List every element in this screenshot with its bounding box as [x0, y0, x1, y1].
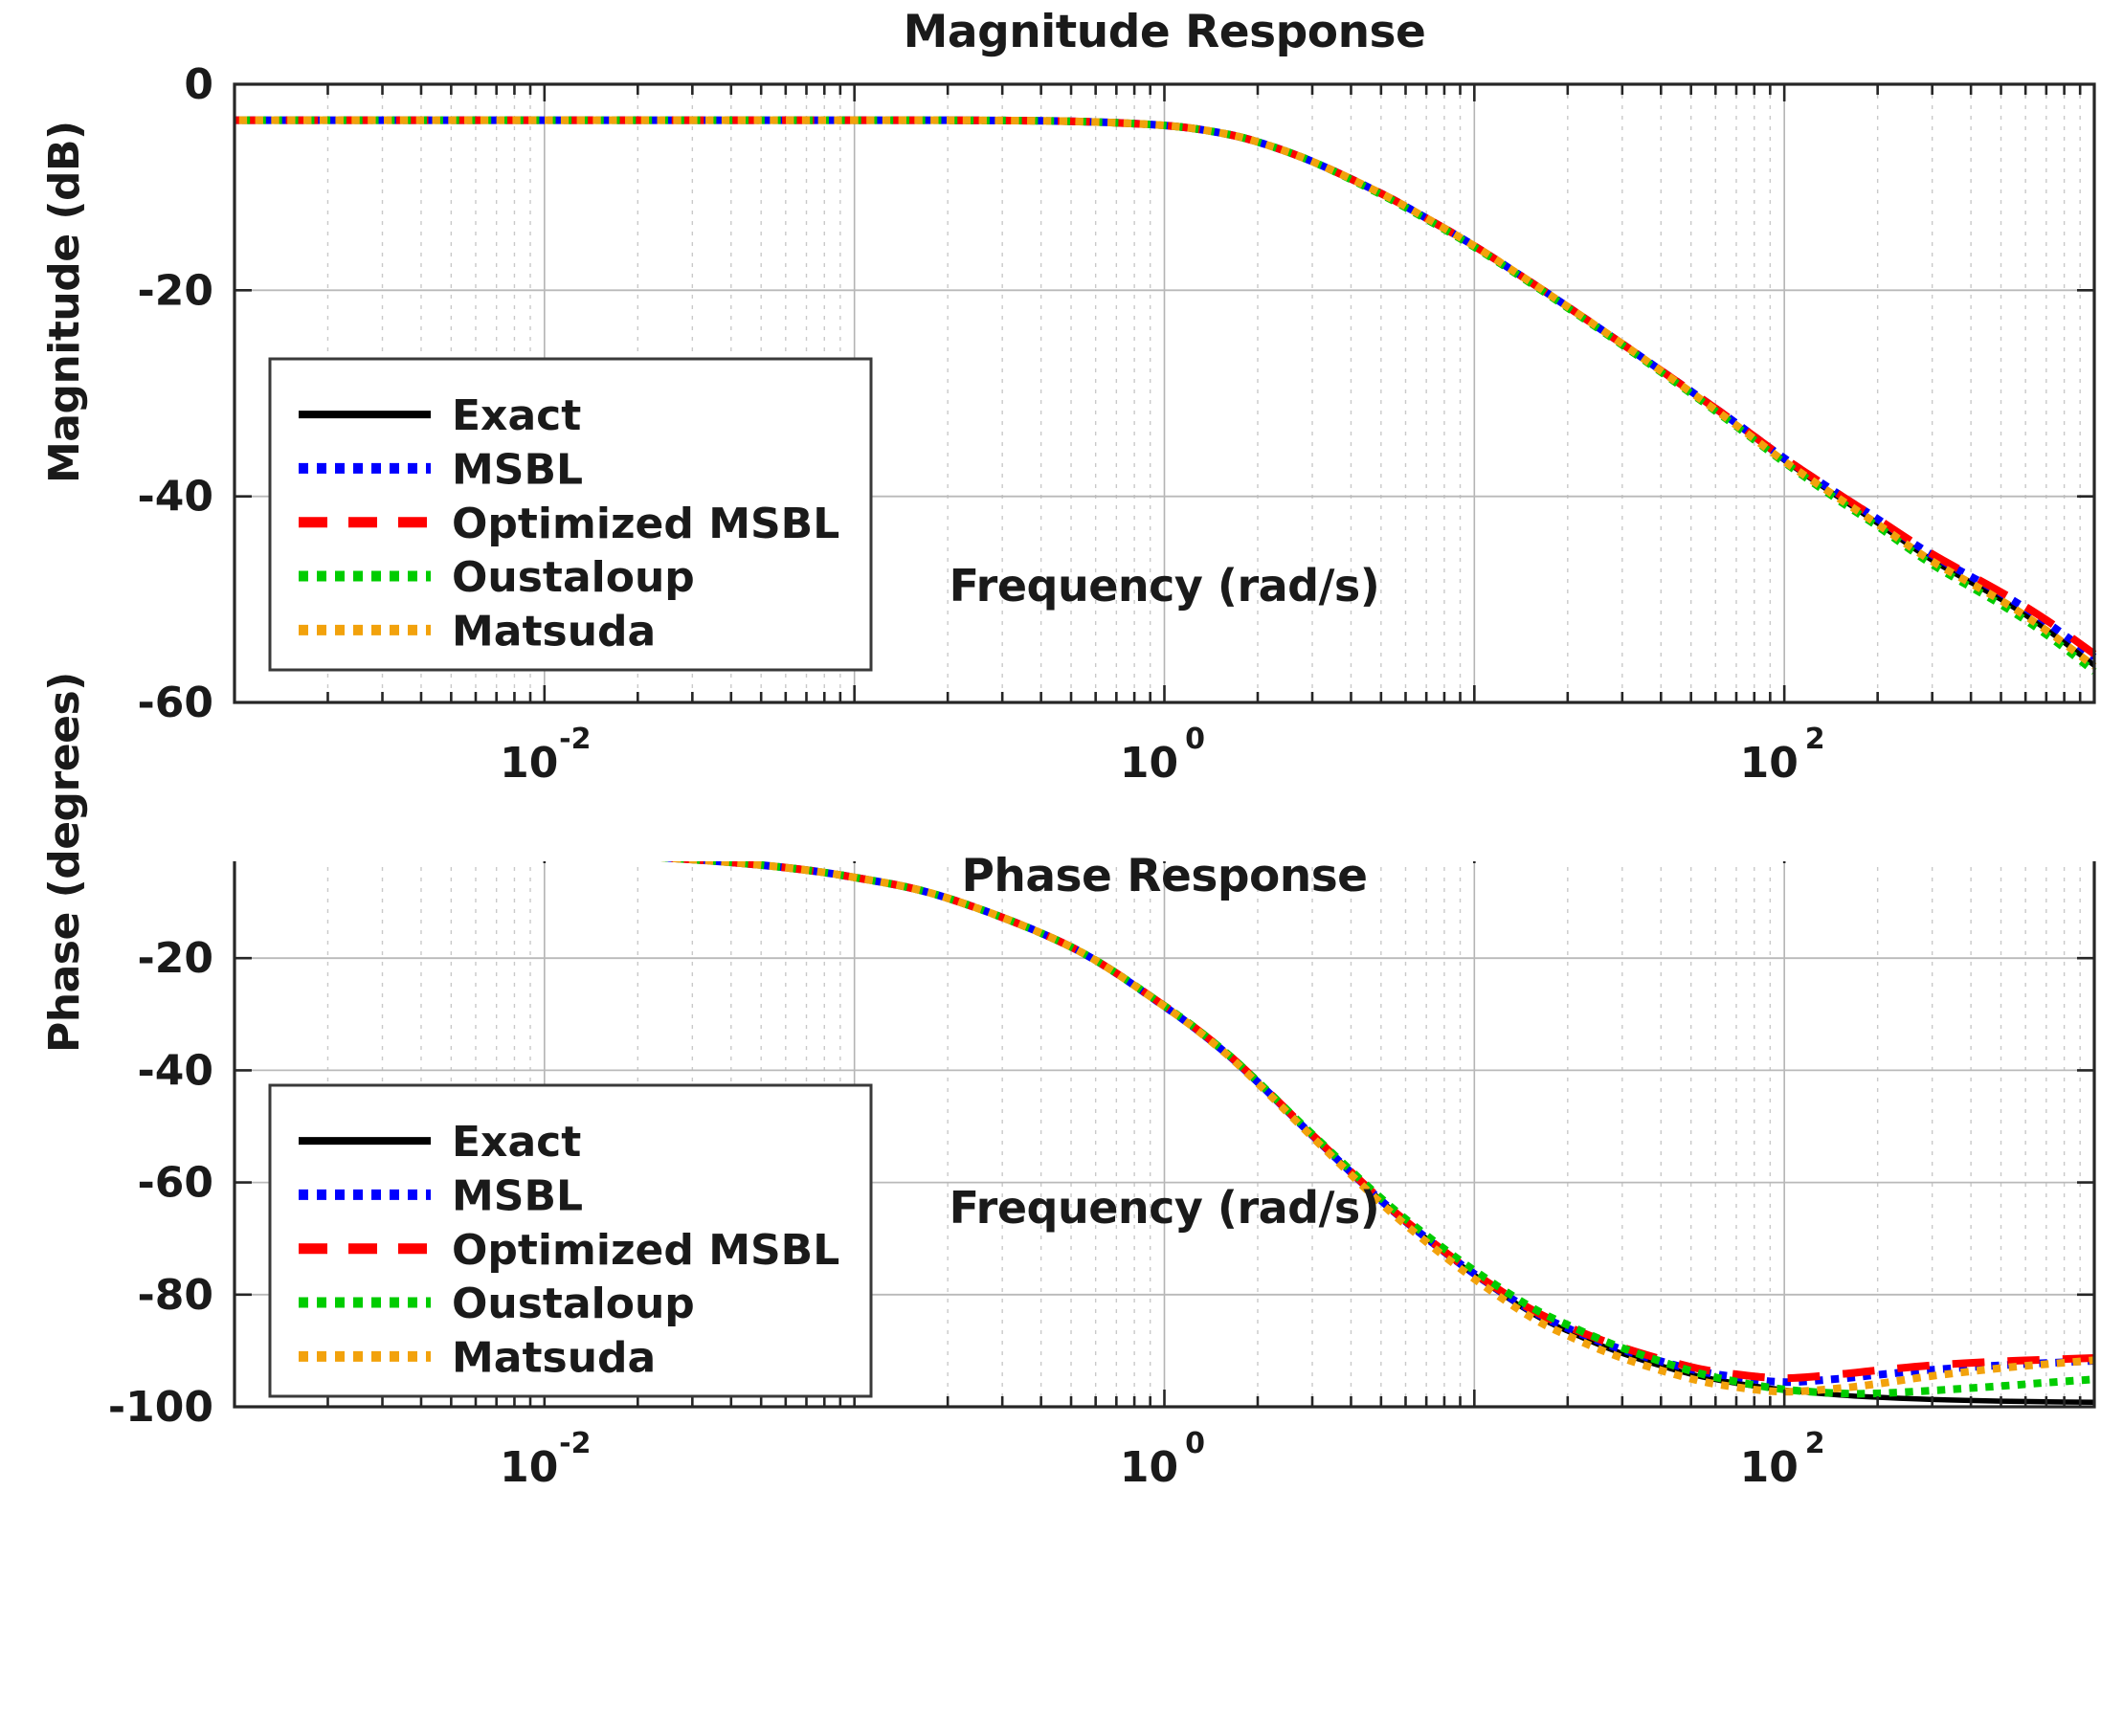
- bode-figure: Magnitude Response Magnitude (dB) Freque…: [0, 0, 2123, 1736]
- phase-panel: Phase Response 0-20-40-60-80-10010-21001…: [0, 861, 2123, 1736]
- y-tick-label: -40: [138, 1046, 214, 1095]
- svg-text:-2: -2: [559, 723, 591, 756]
- x-tick-label: 10-2: [500, 1427, 591, 1492]
- x-tick-label: 100: [1120, 1427, 1205, 1492]
- phase-y-axis-label: Phase (degrees): [40, 672, 89, 1053]
- svg-text:0: 0: [1185, 1427, 1205, 1460]
- legend-label-exact: Exact: [452, 1118, 581, 1167]
- magnitude-y-axis-label: Magnitude (dB): [40, 121, 89, 483]
- svg-text:10: 10: [1740, 739, 1799, 788]
- legend-label-matsuda: Matsuda: [452, 1333, 656, 1382]
- phase-plot-svg: 0-20-40-60-80-10010-2100102ExactMSBLOpti…: [0, 861, 2123, 1736]
- svg-text:10: 10: [500, 1443, 558, 1492]
- y-tick-label: -20: [138, 266, 214, 315]
- x-tick-label: 102: [1740, 723, 1825, 788]
- x-tick-label: 10-2: [500, 723, 591, 788]
- svg-text:2: 2: [1805, 723, 1825, 756]
- y-tick-label: -60: [138, 1159, 214, 1208]
- x-tick-label: 102: [1740, 1427, 1825, 1492]
- phase-x-axis-label: Frequency (rad/s): [235, 1182, 2094, 1234]
- legend-label-exact: Exact: [452, 391, 581, 440]
- svg-text:10: 10: [1120, 1443, 1178, 1492]
- legend-label-optimized-msbl: Optimized MSBL: [452, 500, 839, 548]
- y-tick-label: 0: [184, 861, 213, 871]
- legend: ExactMSBLOptimized MSBLOustaloupMatsuda: [270, 1085, 871, 1396]
- phase-title: Phase Response: [235, 850, 2094, 902]
- y-tick-label: -80: [138, 1271, 214, 1320]
- y-tick-label: -40: [138, 473, 214, 522]
- legend-label-matsuda: Matsuda: [452, 607, 656, 656]
- svg-text:10: 10: [1120, 739, 1178, 788]
- y-tick-label: 0: [184, 60, 213, 109]
- y-tick-label: -60: [138, 679, 214, 727]
- svg-text:10: 10: [500, 739, 558, 788]
- svg-text:0: 0: [1185, 723, 1205, 756]
- svg-text:10: 10: [1740, 1443, 1799, 1492]
- svg-text:-2: -2: [559, 1427, 591, 1460]
- svg-text:2: 2: [1805, 1427, 1825, 1460]
- magnitude-panel: Magnitude Response Magnitude (dB) Freque…: [0, 0, 2123, 861]
- y-tick-label: -100: [108, 1383, 213, 1432]
- magnitude-x-axis-label: Frequency (rad/s): [235, 560, 2094, 612]
- x-tick-label: 100: [1120, 723, 1205, 788]
- legend-label-oustaloup: Oustaloup: [452, 1280, 695, 1328]
- legend: ExactMSBLOptimized MSBLOustaloupMatsuda: [270, 359, 871, 670]
- magnitude-title: Magnitude Response: [235, 6, 2094, 58]
- legend-label-msbl: MSBL: [452, 445, 583, 494]
- y-tick-label: -20: [138, 934, 214, 983]
- magnitude-plot-svg: 0-20-40-6010-2100102ExactMSBLOptimized M…: [0, 0, 2123, 861]
